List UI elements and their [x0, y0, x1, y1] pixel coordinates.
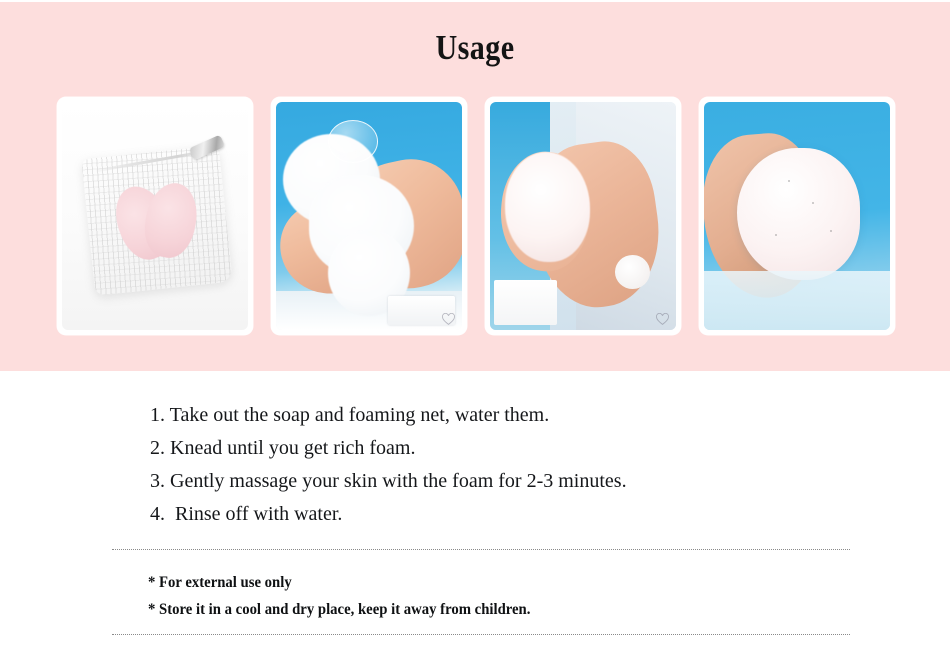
usage-notes-list: * For external use only * Store it in a … [148, 569, 848, 623]
usage-step: 2. Knead until you get rich foam. [150, 432, 870, 465]
soap-net-photo [62, 102, 248, 330]
running-water [704, 271, 890, 330]
usage-photo-strip [57, 97, 895, 335]
foam-speck [788, 180, 790, 182]
photo-card-kneading-foam [271, 97, 467, 335]
usage-step: 1. Take out the soap and foaming net, wa… [150, 399, 870, 432]
usage-note: * For external use only [148, 569, 813, 596]
foam-knead-photo [276, 102, 462, 330]
heart-watermark-icon [442, 313, 455, 325]
usage-step: 3. Gently massage your skin with the foa… [150, 465, 870, 498]
foam-on-hand [505, 152, 591, 261]
foam-massage-photo [490, 102, 676, 330]
usage-step: 4. Rinse off with water. [150, 498, 870, 531]
photo-card-massaging-skin [485, 97, 681, 335]
usage-steps-list: 1. Take out the soap and foaming net, wa… [150, 399, 870, 531]
foam-speck [775, 234, 777, 236]
photo-card-rinsing-foam [699, 97, 895, 335]
product-card [494, 280, 557, 326]
heart-soap [115, 181, 199, 263]
page-title: Usage [67, 28, 884, 68]
usage-instruction-page: Usage [0, 0, 950, 666]
divider-top [112, 549, 850, 550]
usage-hero-band: Usage [0, 2, 950, 371]
divider-bottom [112, 634, 850, 635]
photo-card-soap-in-mesh-net [57, 97, 253, 335]
large-foam-ball [737, 148, 860, 280]
foam-dab-on-arm [615, 255, 650, 289]
usage-note: * Store it in a cool and dry place, keep… [148, 596, 813, 623]
foam-rinse-photo [704, 102, 890, 330]
heart-watermark-icon [656, 313, 669, 325]
